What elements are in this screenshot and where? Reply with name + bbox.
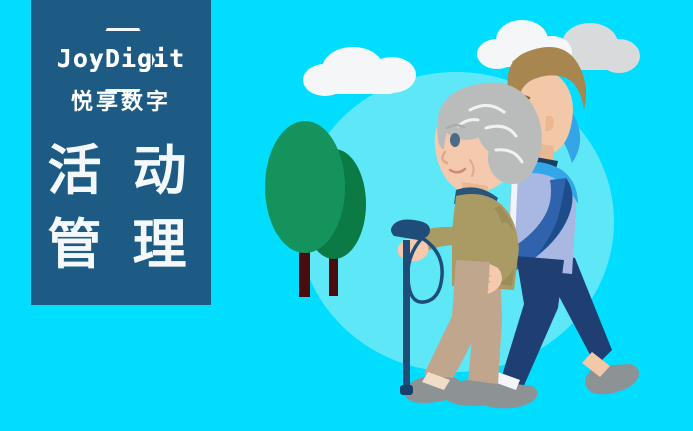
logo-wordmark: JoyDigit (31, 44, 211, 73)
page-title-line-1: 活 动 (31, 134, 211, 208)
logo: JoyDigit 悦享数字 (31, 28, 211, 128)
page-title: 活 动 管 理 (31, 134, 211, 282)
logo-chinese-name: 悦享数字 (31, 84, 211, 116)
title-panel: JoyDigit 悦享数字 活 动 管 理 (31, 0, 211, 305)
page-title-line-2: 管 理 (31, 208, 211, 282)
elder-eye (450, 133, 460, 147)
cane-tip (400, 385, 413, 395)
illustration-banner: JoyDigit 悦享数字 活 动 管 理 (0, 0, 693, 431)
